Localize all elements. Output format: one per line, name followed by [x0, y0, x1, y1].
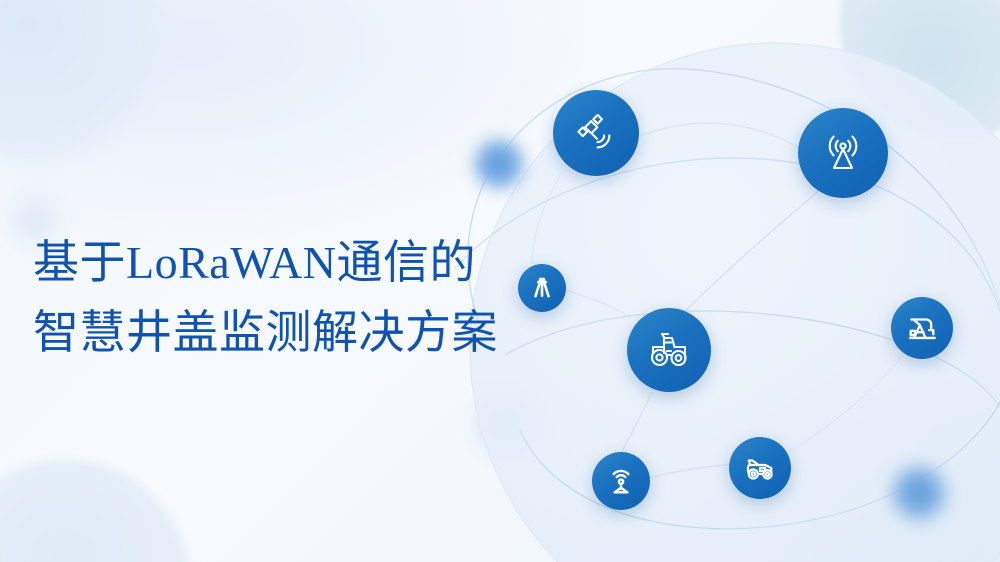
node-tractor[interactable] [627, 308, 711, 392]
decor-dot-upper-center [470, 135, 528, 193]
connector-tripod-tractor [566, 290, 630, 318]
node-beacon[interactable] [592, 452, 650, 510]
node-satellite[interactable] [553, 90, 639, 176]
node-pumpjack[interactable] [891, 297, 953, 359]
tractor-icon [645, 326, 693, 374]
page-title-line-1: 基于LoRaWAN通信的 [33, 228, 553, 298]
decor-dot-lower-right [888, 462, 950, 524]
connector-beacon-harvester [648, 464, 734, 478]
connector-tractor-beacon [620, 392, 652, 455]
node-tripod[interactable] [518, 264, 566, 312]
satellite-icon [573, 110, 619, 156]
node-harvester[interactable] [729, 437, 791, 499]
connector-antenna-tractor [676, 190, 820, 320]
harvester-icon [742, 450, 778, 486]
beacon-icon [605, 465, 637, 497]
antenna-icon [819, 129, 867, 177]
connector-satellite-antenna [630, 123, 802, 150]
decor-dot-center-lower [470, 385, 546, 461]
connector-harvester-pumpjack [790, 356, 902, 452]
tripod-icon [529, 275, 555, 301]
slide-canvas: 基于LoRaWAN通信的 智慧井盖监测解决方案 [0, 0, 1000, 562]
pumpjack-icon [905, 311, 939, 345]
decor-blob-top-left [0, 0, 166, 170]
decor-blob-bottom-right [788, 402, 1000, 562]
node-antenna[interactable] [798, 108, 888, 198]
page-title: 基于LoRaWAN通信的 智慧井盖监测解决方案 [33, 228, 553, 368]
page-title-line-2: 智慧井盖监测解决方案 [33, 298, 553, 368]
decor-blob-bottom-left [0, 460, 190, 562]
